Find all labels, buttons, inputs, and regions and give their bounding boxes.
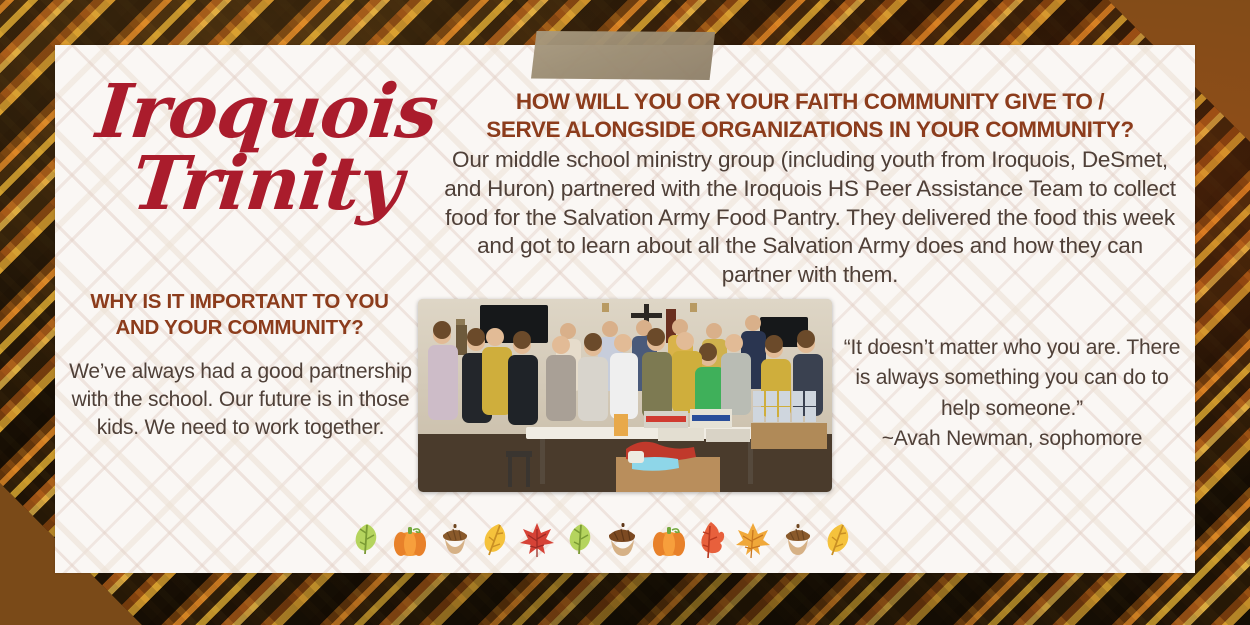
orange-maple-leaf-icon [735,521,771,559]
acorn-icon [439,522,471,558]
red-maple-leaf-icon [519,521,555,559]
iroquois-trinity-logo: Iroquois Trinity [92,78,442,273]
yellow-leaf-icon [481,521,509,559]
poster-canvas: Iroquois Trinity HOW WILL YOU OR YOUR FA… [0,0,1250,625]
acorn-icon [782,522,814,558]
main-heading-line-2: SERVE ALONGSIDE ORGANIZATIONS IN YOUR CO… [440,116,1180,144]
logo-line-2: Trinity [88,150,445,218]
pumpkin-icon [392,523,428,557]
acorn-icon [606,522,640,558]
quote-attribution: ~Avah Newman, sophomore [842,424,1182,454]
fall-icon-row [352,516,852,564]
left-heading-line-2: AND YOUR COMMUNITY? [62,315,417,341]
green-leaf-icon [566,521,596,559]
left-heading-line-1: WHY IS IT IMPORTANT TO YOU [62,289,417,315]
student-quote-block: “It doesn’t matter who you are. There is… [842,333,1182,455]
yellow-leaf-icon [824,521,852,559]
main-body-text: Our middle school ministry group (includ… [440,146,1180,290]
main-heading-line-1: HOW WILL YOU OR YOUR FAITH COMMUNITY GIV… [440,88,1180,116]
logo-line-1: Iroquois [88,78,445,146]
left-body-text: We’ve always had a good partnership with… [68,358,413,442]
green-leaf-icon [352,521,382,559]
masking-tape-icon [531,31,717,80]
group-photo-illustration [418,299,832,492]
pumpkin-icon [651,523,687,557]
group-photo [418,299,832,492]
main-heading: HOW WILL YOU OR YOUR FAITH COMMUNITY GIV… [440,88,1180,145]
quote-text: “It doesn’t matter who you are. There is… [844,336,1181,420]
red-leaf-icon [697,520,725,560]
left-heading: WHY IS IT IMPORTANT TO YOU AND YOUR COMM… [62,289,417,341]
